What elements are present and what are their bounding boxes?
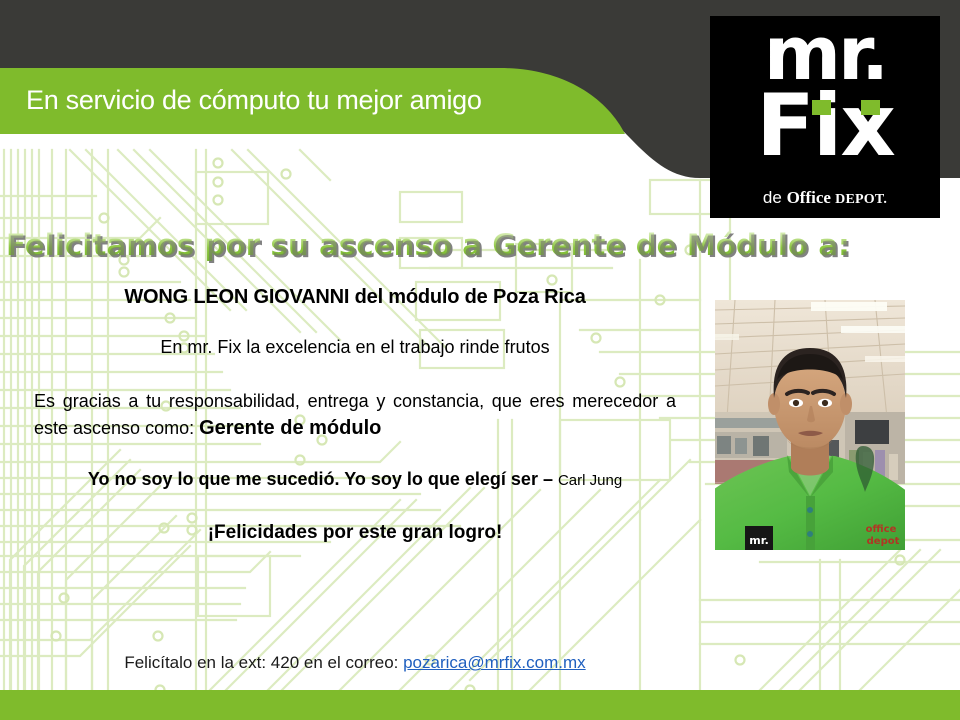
- certificate-slide: En servicio de cómputo tu mejor amigo mr…: [0, 0, 960, 720]
- header-tagline: En servicio de cómputo tu mejor amigo: [26, 85, 482, 116]
- logo-green-square-left: [812, 100, 831, 115]
- quote-author: Carl Jung: [558, 472, 622, 489]
- mrfix-logo: mr. Fix de Office DEPOT.: [710, 16, 940, 218]
- company-motto-line: En mr. Fix la excelencia en el trabajo r…: [0, 337, 710, 358]
- recognition-paragraph: Es gracias a tu responsabilidad, entrega…: [34, 388, 676, 443]
- employee-photo: mr. office depot: [715, 300, 905, 550]
- certificate-body: WONG LEON GIOVANNI del módulo de Poza Ri…: [0, 286, 710, 544]
- congratulations-line: ¡Felicidades por este gran logro!: [0, 522, 710, 544]
- contact-prefix: Felicítalo en la ext: 420 en el correo:: [124, 653, 403, 672]
- logo-green-square-right: [861, 100, 880, 115]
- footer-green-bar: [0, 690, 960, 720]
- logo-sub-depot: DEPOT.: [835, 192, 887, 207]
- logo-subtitle: de Office DEPOT.: [710, 188, 940, 208]
- quote-text: Yo no soy lo que me sucedió. Yo soy lo q…: [88, 469, 558, 489]
- logo-sub-office: Office: [787, 188, 836, 207]
- headline-text: Felicitamos por su ascenso a Gerente de …: [6, 228, 850, 262]
- contact-email-link[interactable]: pozarica@mrfix.com.mx: [403, 653, 586, 672]
- svg-text:mr.: mr.: [749, 534, 769, 547]
- headline-banner: Felicitamos por su ascenso a Gerente de …: [0, 228, 960, 274]
- contact-line: Felicítalo en la ext: 420 en el correo: …: [0, 653, 710, 673]
- new-role-label: Gerente de módulo: [199, 417, 381, 439]
- logo-sub-de: de: [763, 188, 787, 207]
- svg-text:depot: depot: [867, 536, 900, 547]
- svg-text:office: office: [866, 524, 897, 535]
- quote-line: Yo no soy lo que me sucedió. Yo soy lo q…: [0, 469, 710, 490]
- employee-name-line: WONG LEON GIOVANNI del módulo de Poza Ri…: [0, 286, 710, 309]
